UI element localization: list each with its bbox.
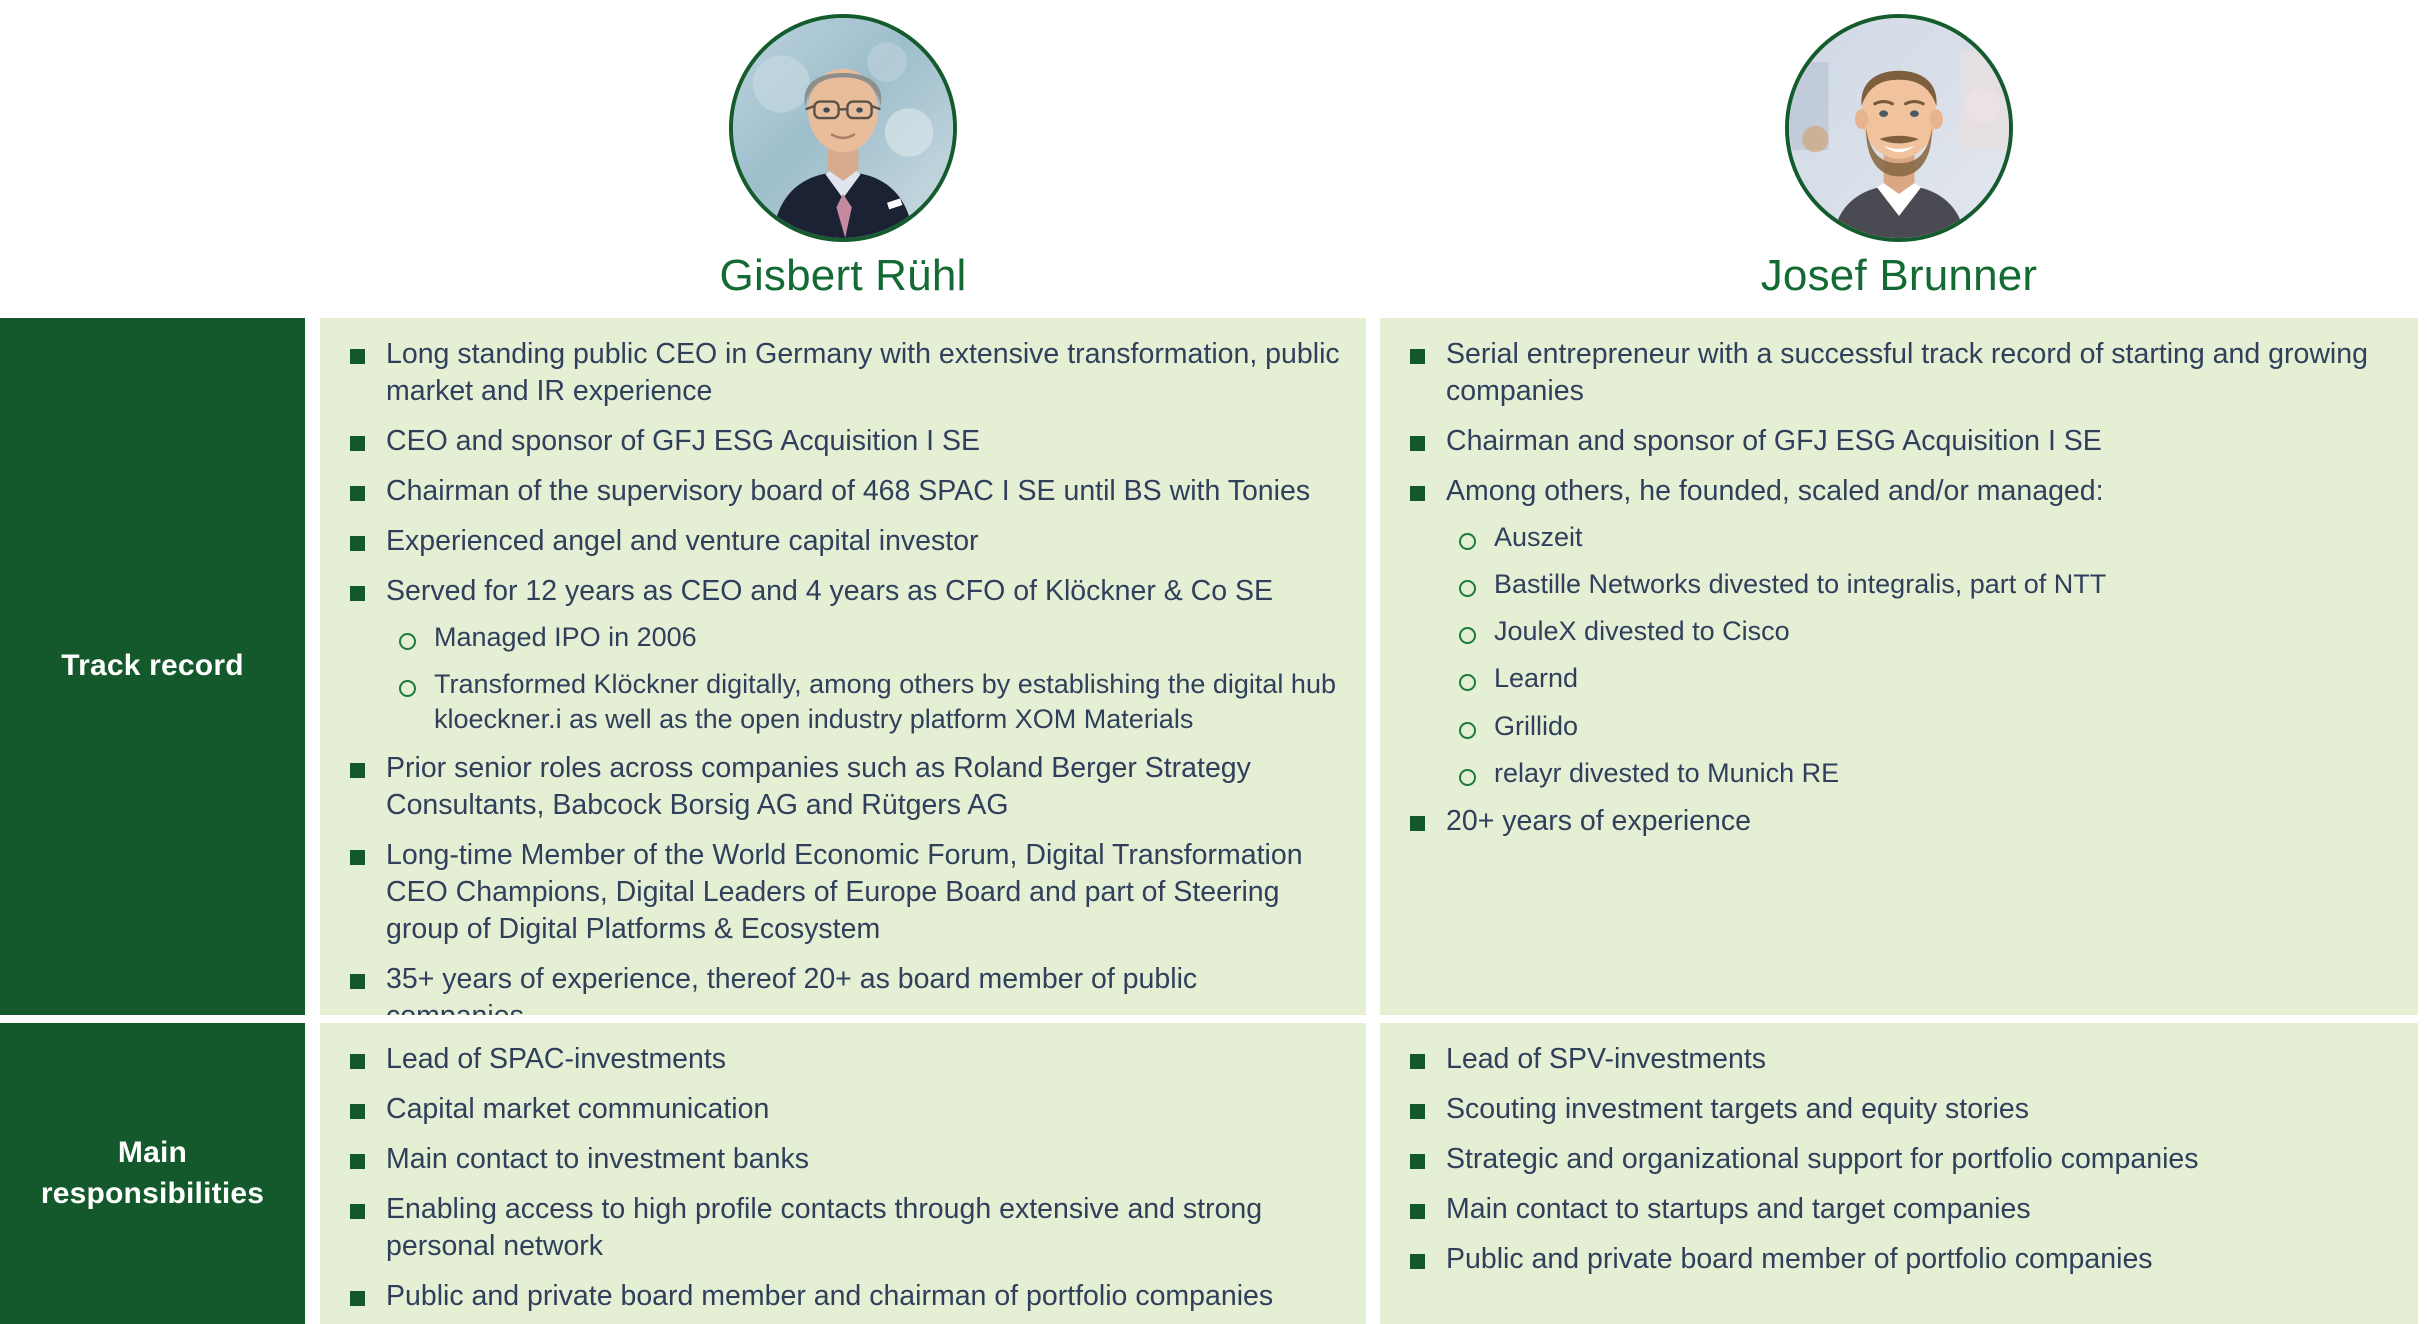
sub-bullet-list: Auszeit Bastille Networks divested to in… [1454,520,2392,791]
bullet-list-continued: Prior senior roles across companies such… [346,750,1340,1015]
bullet-list-continued: 20+ years of experience [1406,803,2392,840]
list-item: Public and private board member of portf… [1406,1241,2392,1278]
list-item: Long-time Member of the World Economic F… [346,837,1340,948]
list-item: Main contact to startups and target comp… [1406,1191,2392,1228]
list-item: Strategic and organizational support for… [1406,1141,2392,1178]
responsibilities-left-column: Lead of SPAC-investments Capital market … [320,1023,1366,1324]
list-item: Enabling access to high profile contacts… [346,1191,1340,1265]
sub-list-item: Bastille Networks divested to integralis… [1454,567,2392,602]
sub-bullet-list: Managed IPO in 2006 Transformed Klöckner… [394,620,1340,737]
row-label-main-responsibilities: Main responsibilities [0,1023,305,1324]
list-item: Prior senior roles across companies such… [346,750,1340,824]
row-main-responsibilities: Main responsibilities Lead of SPAC-inves… [0,1023,2428,1324]
person-header-left: Gisbert Rühl [320,0,1366,318]
list-item: Serial entrepreneur with a successful tr… [1406,336,2392,410]
bullet-list: Long standing public CEO in Germany with… [346,336,1340,610]
track-record-right-column: Serial entrepreneur with a successful tr… [1380,318,2418,1015]
bullet-list: Lead of SPV-investments Scouting investm… [1406,1041,2392,1278]
row-label-text: Main responsibilities [0,1133,305,1214]
sub-list-item: Auszeit [1454,520,2392,555]
row-track-record: Track record Long standing public CEO in… [0,318,2428,1015]
track-record-left-column: Long standing public CEO in Germany with… [320,318,1366,1015]
list-item: Public and private board member and chai… [346,1278,1340,1315]
sub-list-item: Learnd [1454,661,2392,696]
person-name-left: Gisbert Rühl [720,252,967,300]
list-item: Experienced angel and venture capital in… [346,523,1340,560]
person-header-right: Josef Brunner [1380,0,2418,318]
person-name-right: Josef Brunner [1761,252,2038,300]
list-item: CEO and sponsor of GFJ ESG Acquisition I… [346,423,1340,460]
list-item: Long standing public CEO in Germany with… [346,336,1340,410]
list-item: Chairman of the supervisory board of 468… [346,473,1340,510]
responsibilities-right-column: Lead of SPV-investments Scouting investm… [1380,1023,2418,1324]
sub-list-item: Transformed Klöckner digitally, among ot… [394,667,1340,737]
sub-list-item: Managed IPO in 2006 [394,620,1340,655]
sub-list-item: relayr divested to Munich RE [1454,756,2392,791]
list-item: Among others, he founded, scaled and/or … [1406,473,2392,510]
team-profile-slide: Gisbert Rühl [0,0,2428,1324]
list-item: Chairman and sponsor of GFJ ESG Acquisit… [1406,423,2392,460]
sub-list-item: JouleX divested to Cisco [1454,614,2392,649]
list-item: 20+ years of experience [1406,803,2392,840]
list-item: Served for 12 years as CEO and 4 years a… [346,573,1340,610]
list-item: Scouting investment targets and equity s… [1406,1091,2392,1128]
list-item: 35+ years of experience, thereof 20+ as … [346,961,1340,1015]
portrait-photo-gisbert-ruehl-icon [729,14,957,242]
bullet-list: Serial entrepreneur with a successful tr… [1406,336,2392,510]
bullet-list: Lead of SPAC-investments Capital market … [346,1041,1340,1315]
row-label-text: Track record [51,646,254,687]
list-item: Lead of SPV-investments [1406,1041,2392,1078]
row-label-track-record: Track record [0,318,305,1015]
list-item: Lead of SPAC-investments [346,1041,1340,1078]
list-item: Capital market communication [346,1091,1340,1128]
portrait-photo-josef-brunner-icon [1785,14,2013,242]
sub-list-item: Grillido [1454,709,2392,744]
list-item: Main contact to investment banks [346,1141,1340,1178]
